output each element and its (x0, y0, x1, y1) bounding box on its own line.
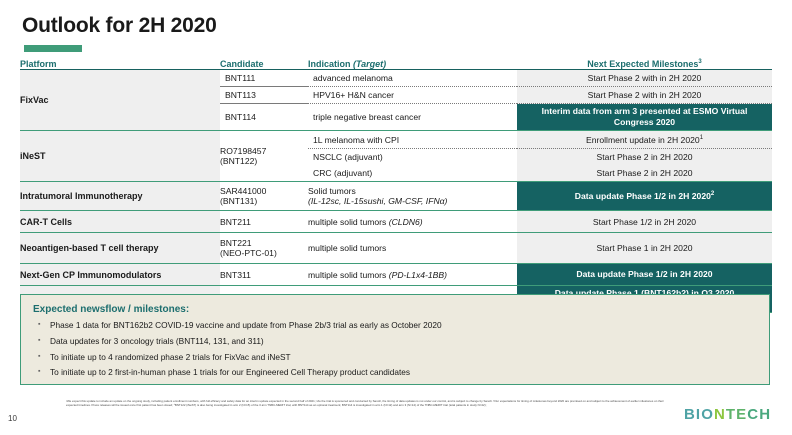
list-item: ▪ To initiate up to 2 first-in-human pha… (38, 367, 769, 378)
candidate-inest: RO7198457 (BNT122) (220, 131, 308, 182)
column-header-indication-target: (Target) (353, 59, 386, 69)
logo-part-n: N (714, 406, 726, 423)
candidate-inest-sub: (BNT122) (220, 156, 308, 166)
milestone-inest-footnote-marker: 1 (700, 135, 703, 141)
table-row: Next-Gen CP Immunomodulators BNT311 mult… (20, 264, 772, 286)
indication-bnt113: HPV16+ H&N cancer (308, 87, 517, 104)
table-row: FixVac BNT111 BNT113 BNT114 advanced mel… (20, 70, 772, 131)
candidate-bnt311: BNT311 (220, 264, 308, 286)
milestone-group-inest: Enrollment update in 2H 20201 Start Phas… (517, 131, 772, 182)
candidate-group-fixvac: BNT111 BNT113 BNT114 (220, 70, 308, 131)
newsflow-bullet-text: To initiate up to 2 first-in-human phase… (50, 367, 410, 378)
candidate-sar441000-main: SAR441000 (220, 186, 308, 196)
column-header-indication-main: Indication (308, 59, 351, 69)
milestone-inest-1l-melanoma-text: Enrollment update in 2H 2020 (586, 135, 700, 145)
candidate-inest-main: RO7198457 (220, 146, 308, 156)
indication-group-inest: 1L melanoma with CPI NSCLC (adjuvant) CR… (308, 131, 517, 182)
platform-next-gen-cp-immunomodulators: Next-Gen CP Immunomodulators (20, 264, 220, 286)
expected-newsflow-box: Expected newsflow / milestones: ▪ Phase … (20, 294, 770, 385)
platform-inest: iNeST (20, 131, 220, 182)
milestone-inest-1l-melanoma: Enrollment update in 2H 20201 (517, 131, 772, 149)
platform-car-t-cells: CAR-T Cells (20, 211, 220, 233)
milestone-sar441000: Data update Phase 1/2 in 2H 20202 (517, 182, 772, 211)
indication-inest-nsclc: NSCLC (adjuvant) (308, 149, 517, 166)
indication-bnt211-main: multiple solid tumors (308, 217, 389, 227)
indication-bnt311-target: (PD-L1x4-1BB) (389, 270, 447, 280)
column-header-platform: Platform (20, 59, 220, 70)
page-title: Outlook for 2H 2020 (22, 14, 217, 38)
candidate-sar441000: SAR441000 (BNT131) (220, 182, 308, 211)
milestone-inest-nsclc: Start Phase 2 in 2H 2020 (517, 149, 772, 166)
indication-inest-1l-melanoma: 1L melanoma with CPI (308, 131, 517, 149)
biontech-logo: BIONTECH (684, 406, 771, 423)
milestone-group-fixvac: Start Phase 2 with in 2H 2020 Start Phas… (517, 70, 772, 131)
list-item: ▪ Data updates for 3 oncology trials (BN… (38, 336, 769, 347)
milestone-bnt221: Start Phase 1 in 2H 2020 (517, 233, 772, 264)
indication-bnt114: triple negative breast cancer (308, 104, 517, 131)
list-item: ▪ To initiate up to 4 randomized phase 2… (38, 352, 769, 363)
milestone-bnt311: Data update Phase 1/2 in 2H 2020 (517, 264, 772, 286)
candidate-bnt221-main: BNT221 (220, 238, 308, 248)
bullet-icon: ▪ (38, 367, 50, 376)
logo-part-bio: BIO (684, 406, 714, 423)
candidate-bnt221: BNT221 (NEO-PTC-01) (220, 233, 308, 264)
logo-part-te: TE (726, 406, 747, 423)
newsflow-bullet-text: Phase 1 data for BNT162b2 COVID-19 vacci… (50, 320, 442, 331)
logo-part-ch: CH (747, 406, 771, 423)
page-number: 10 (8, 414, 17, 423)
milestone-sar441000-text: Data update Phase 1/2 in 2H 2020 (575, 191, 711, 201)
indication-bnt221: multiple solid tumors (308, 233, 517, 264)
bullet-icon: ▪ (38, 320, 50, 329)
newsflow-bullet-text: Data updates for 3 oncology trials (BNT1… (50, 336, 264, 347)
newsflow-title: Expected newsflow / milestones: (33, 304, 769, 315)
indication-inest-crc: CRC (adjuvant) (308, 165, 517, 181)
list-item: ▪ Phase 1 data for BNT162b2 COVID-19 vac… (38, 320, 769, 331)
indication-sar441000-target: (IL-12sc, IL-15sushi, GM-CSF, IFNα) (308, 196, 517, 206)
candidate-sar441000-sub: (BNT131) (220, 196, 308, 206)
column-header-milestones: Next Expected Milestones3 (517, 59, 772, 70)
candidate-bnt221-sub: (NEO-PTC-01) (220, 248, 308, 258)
indication-group-fixvac: advanced melanoma HPV16+ H&N cancer trip… (308, 70, 517, 131)
table-row: iNeST RO7198457 (BNT122) 1L melanoma wit… (20, 131, 772, 182)
milestone-bnt113: Start Phase 2 with in 2H 2020 (517, 87, 772, 104)
column-header-candidate: Candidate (220, 59, 308, 70)
table-row: CAR-T Cells BNT211 multiple solid tumors… (20, 211, 772, 233)
indication-bnt311-main: multiple solid tumors (308, 270, 389, 280)
footnote-text: ¹We expect this update to include an upd… (66, 399, 666, 407)
indication-bnt311: multiple solid tumors (PD-L1x4-1BB) (308, 264, 517, 286)
indication-sar441000: Solid tumors (IL-12sc, IL-15sushi, GM-CS… (308, 182, 517, 211)
title-accent-rule (24, 45, 82, 52)
platform-fixvac: FixVac (20, 70, 220, 131)
milestone-inest-crc: Start Phase 2 in 2H 2020 (517, 165, 772, 181)
column-header-indication: Indication (Target) (308, 59, 517, 70)
platform-intratumoral-immunotherapy: Intratumoral Immunotherapy (20, 182, 220, 211)
column-header-milestones-footnote-marker: 3 (698, 59, 701, 65)
candidate-bnt113: BNT113 (220, 87, 308, 104)
pipeline-table: Platform Candidate Indication (Target) N… (20, 59, 772, 313)
newsflow-bullet-text: To initiate up to 4 randomized phase 2 t… (50, 352, 291, 363)
table-row: Neoantigen-based T cell therapy BNT221 (… (20, 233, 772, 264)
indication-bnt211-target: (CLDN6) (389, 217, 423, 227)
candidate-bnt114: BNT114 (220, 104, 308, 131)
column-header-milestones-label: Next Expected Milestones (587, 59, 698, 69)
indication-bnt111: advanced melanoma (308, 70, 517, 87)
milestone-sar441000-footnote-marker: 2 (711, 191, 714, 197)
milestone-bnt111: Start Phase 2 with in 2H 2020 (517, 70, 772, 87)
bullet-icon: ▪ (38, 336, 50, 345)
bullet-icon: ▪ (38, 352, 50, 361)
milestone-bnt211: Start Phase 1/2 in 2H 2020 (517, 211, 772, 233)
milestone-bnt114: Interim data from arm 3 presented at ESM… (517, 104, 772, 131)
table-header-row: Platform Candidate Indication (Target) N… (20, 59, 772, 70)
table-row: Intratumoral Immunotherapy SAR441000 (BN… (20, 182, 772, 211)
candidate-bnt211: BNT211 (220, 211, 308, 233)
pipeline-table-wrapper: Platform Candidate Indication (Target) N… (20, 59, 772, 313)
candidate-bnt111: BNT111 (220, 70, 308, 87)
indication-sar441000-main: Solid tumors (308, 186, 517, 196)
indication-bnt211: multiple solid tumors (CLDN6) (308, 211, 517, 233)
platform-neoantigen-based-t-cell-therapy: Neoantigen-based T cell therapy (20, 233, 220, 264)
